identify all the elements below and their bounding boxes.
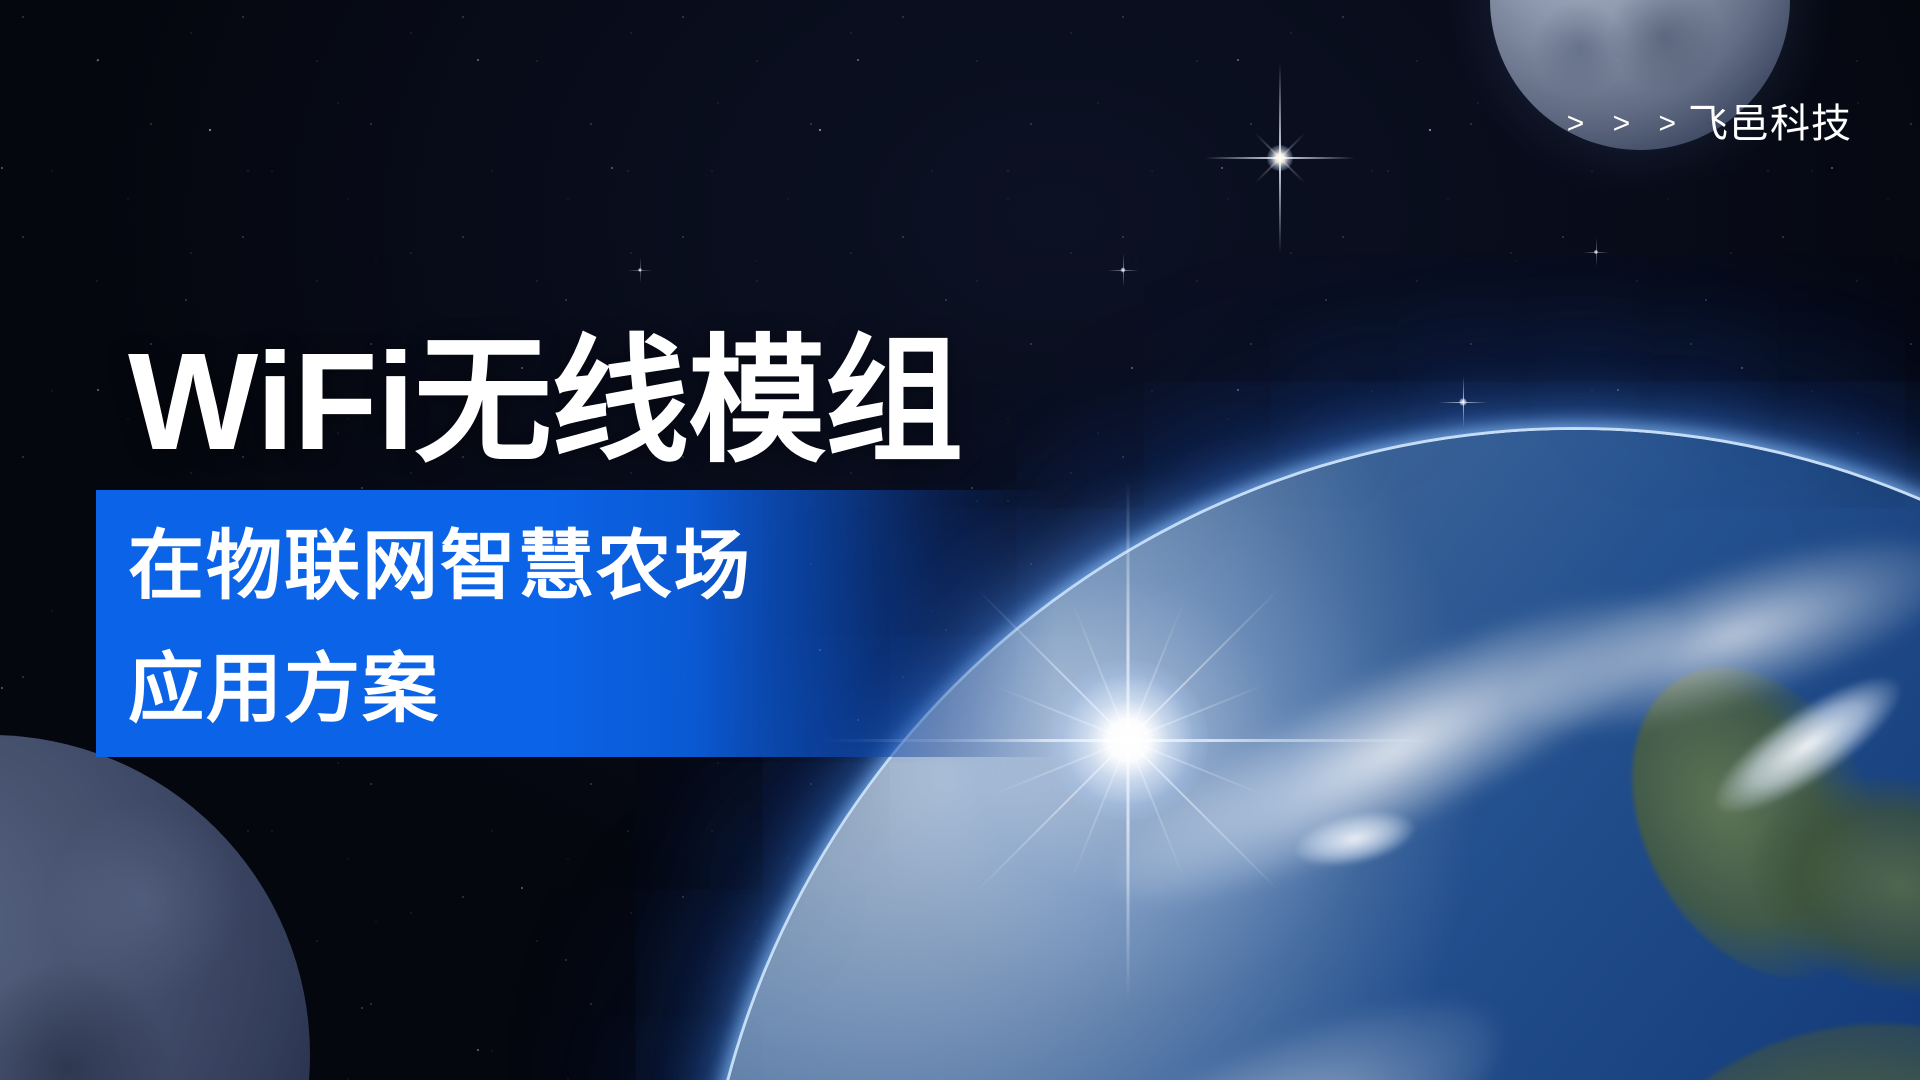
star-core: [1120, 267, 1125, 272]
star-core: [1594, 250, 1598, 254]
page-title: WiFi无线模组: [128, 330, 962, 475]
subtitle-line-1: 在物联网智慧农场: [128, 505, 752, 628]
brand-logo[interactable]: > > > 飞邑科技: [1567, 104, 1852, 144]
subtitle-line-2: 应用方案: [128, 628, 752, 751]
brand-name-label: 飞邑科技: [1688, 104, 1852, 144]
chevron-right-icon: > > >: [1567, 109, 1686, 139]
star-core: [1267, 145, 1293, 171]
hero-poster: > > > 飞邑科技 WiFi无线模组 在物联网智慧农场 应用方案: [0, 0, 1920, 1080]
star-core: [638, 268, 642, 272]
subtitle-text-block: 在物联网智慧农场 应用方案: [128, 505, 752, 751]
star-core: [1459, 398, 1467, 406]
